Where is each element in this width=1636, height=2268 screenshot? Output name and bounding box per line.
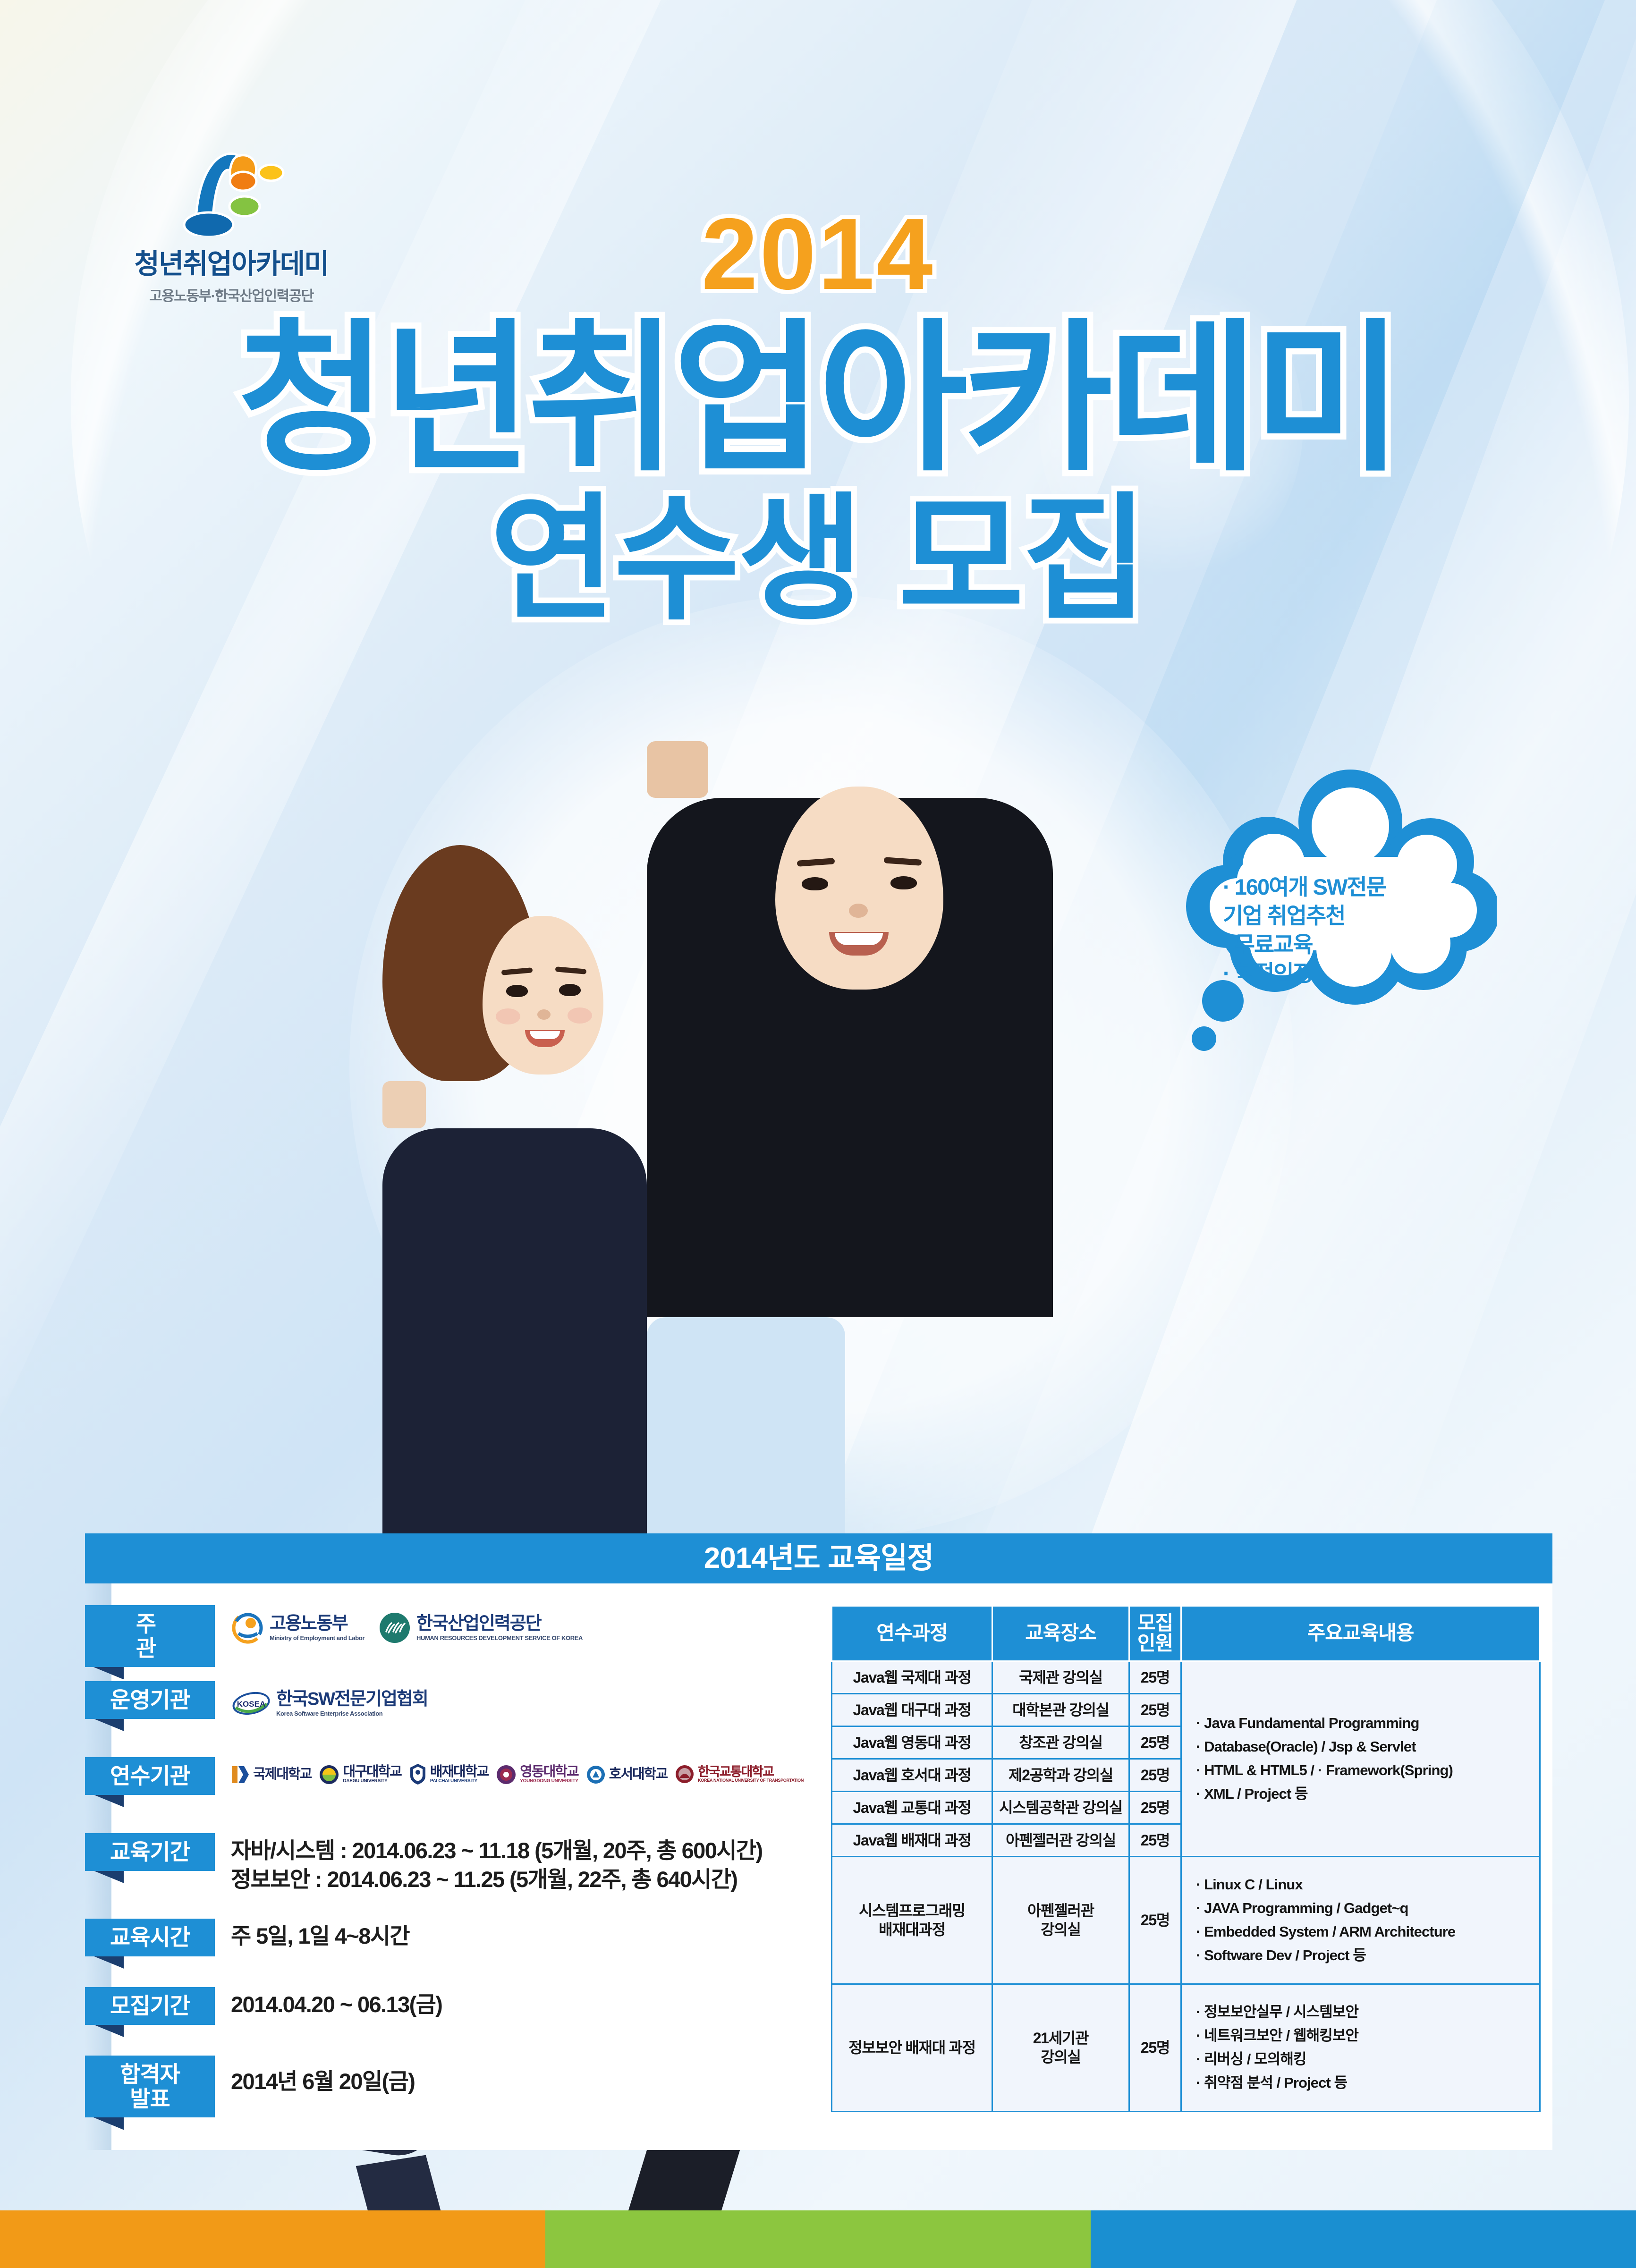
cell-quota: 25명 (1129, 1759, 1181, 1791)
schedule-banner-title: 2014년도 교육일정 (85, 1533, 1552, 1583)
blush-right (568, 1007, 592, 1024)
results-announcement-line: 2014년 6월 20일(금) (231, 2067, 822, 2096)
training-period-line-1: 자바/시스템 : 2014.06.23 ~ 11.18 (5개월, 20주, 총… (231, 1836, 822, 1865)
th-content: 주요교육내용 (1181, 1606, 1540, 1661)
table-header-row: 연수과정 교육장소 모집 인원 주요교육내용 (832, 1606, 1540, 1661)
operator-logos: KOSEA 한국SW전문기업협회 Korea Software Enterpri… (215, 1681, 428, 1720)
hrdkorea-name-ko: 한국산업인력공단 (416, 1615, 583, 1633)
uni-name-ko: 한국교통대학교 (698, 1765, 804, 1778)
cell-course: Java웹 배재대 과정 (832, 1824, 992, 1856)
info-label-training-hours: 교육시간 (85, 1919, 215, 1956)
cell-sysprog-content: · Linux C / Linux · JAVA Programming / G… (1181, 1856, 1540, 1984)
bar-green (545, 2210, 1091, 2268)
tab-fold (92, 1870, 124, 1883)
neck (382, 1081, 426, 1128)
bar-orange (0, 2210, 545, 2268)
moel-logo: 고용노동부 Ministry of Employment and Labor (231, 1611, 364, 1645)
cell-quota: 25명 (1129, 1791, 1181, 1824)
jacket (382, 1128, 647, 1572)
shirt (647, 1317, 845, 1563)
eye-left (506, 985, 528, 997)
headline-line-2: 연수생 모집 (0, 488, 1636, 632)
university-logos: 국제대학교 대구대학교 DAEGU UNIVERSITY (215, 1757, 804, 1786)
headline-line-1: 청년취업아카데미 (0, 313, 1636, 486)
bubble-line-4: · 학점인정 (1223, 959, 1445, 988)
knut-emblem-icon (675, 1763, 695, 1786)
info-label-results-announcement: 합격자 발표 (85, 2056, 215, 2117)
security-content-line-3: · 리버싱 / 모의해킹 (1196, 2048, 1536, 2071)
eye-left (802, 877, 828, 890)
info-value-training-hours: 주 5일, 1일 4~8시간 (215, 1919, 822, 1950)
uni-name-en: KOREA NATIONAL UNIVERSITY OF TRANSPORTAT… (698, 1778, 804, 1783)
uni-logo-knut: 한국교통대학교 KOREA NATIONAL UNIVERSITY OF TRA… (675, 1763, 804, 1786)
java-content-line-4: · XML / Project 등 (1196, 1782, 1536, 1806)
hrdkorea-emblem-icon (378, 1611, 412, 1645)
security-place-line-2: 강의실 (1041, 2048, 1080, 2065)
nose (537, 1009, 551, 1020)
info-value-training-period: 자바/시스템 : 2014.06.23 ~ 11.18 (5개월, 20주, 총… (215, 1833, 822, 1894)
uni-name-ko: 배재대학교 (430, 1765, 488, 1779)
cell-place: 대학본관 강의실 (992, 1693, 1129, 1726)
th-place: 교육장소 (992, 1606, 1129, 1661)
cell-course: Java웹 국제대 과정 (832, 1661, 992, 1693)
sysprog-content-line-4: · Software Dev / Project 등 (1196, 1944, 1536, 1967)
uni-name-ko: 영동대학교 (520, 1765, 578, 1779)
cell-course: Java웹 호서대 과정 (832, 1759, 992, 1791)
cell-quota: 25명 (1129, 1856, 1181, 1984)
security-content-line-4: · 취약점 분석 / Project 등 (1196, 2071, 1536, 2095)
info-row-results-announcement: 합격자 발표 2014년 6월 20일(금) (85, 2056, 822, 2126)
bubble-line-3: · 무료교육 (1223, 930, 1445, 959)
moel-name-en: Ministry of Employment and Labor (270, 1635, 364, 1641)
neck (647, 741, 708, 798)
java-content-line-3: · HTML & HTML5 / · Framework(Spring) (1196, 1759, 1536, 1782)
uni-logo-youngdong: 영동대학교 YOUNGDONG UNIVERSITY (496, 1763, 578, 1785)
security-content-line-2: · 네트워크보안 / 웹해킹보안 (1196, 2024, 1536, 2048)
sysprog-content-line-3: · Embedded System / ARM Architecture (1196, 1920, 1536, 1944)
info-label-application-period: 모집기간 (85, 1987, 215, 2025)
moel-name-ko: 고용노동부 (270, 1615, 364, 1633)
info-row-training-institutions: 연수기관 국제대학교 (85, 1757, 822, 1829)
uni-name-ko: 대구대학교 (343, 1765, 401, 1779)
teeth (530, 1031, 560, 1039)
blush-left (496, 1008, 520, 1024)
info-value-results-announcement: 2014년 6월 20일(금) (215, 2056, 822, 2096)
students-photo (373, 727, 1204, 1544)
kosea-logo: KOSEA 한국SW전문기업협회 Korea Software Enterpri… (231, 1687, 428, 1720)
svg-text:KOSEA: KOSEA (237, 1700, 265, 1709)
info-label-operator: 운영기관 (85, 1681, 215, 1719)
info-value-application-period: 2014.04.20 ~ 06.13(금) (215, 1987, 822, 2019)
info-row-training-hours: 교육시간 주 5일, 1일 4~8시간 (85, 1919, 822, 1983)
uni-name-en: YOUNGDONG UNIVERSITY (520, 1779, 578, 1784)
uni-name-ko: 국제대학교 (253, 1767, 311, 1781)
headline-year: 2014 (701, 203, 934, 305)
kosea-emblem-icon: KOSEA (231, 1687, 271, 1720)
course-table: 연수과정 교육장소 모집 인원 주요교육내용 Java웹 국제대 과정 국제관 … (831, 1605, 1541, 2112)
training-hours-line: 주 5일, 1일 4~8시간 (231, 1921, 822, 1950)
bubble-line-1: · 160여개 SW전문 (1223, 872, 1445, 901)
poster-canvas: 청년취업아카데미 고용노동부·한국산업인력공단 2014 청년취업아카데미 연수… (0, 0, 1636, 2268)
eye-right (890, 876, 917, 889)
headline-block: 2014 청년취업아카데미 연수생 모집 (0, 203, 1636, 631)
cell-place: 제2공학과 강의실 (992, 1759, 1129, 1791)
cell-quota: 25명 (1129, 1661, 1181, 1693)
bar-blue (1091, 2210, 1636, 2268)
application-period-line: 2014.04.20 ~ 06.13(금) (231, 1990, 822, 2019)
sysprog-place-line-2: 강의실 (1041, 1921, 1080, 1938)
eye-right (559, 984, 581, 996)
cell-place: 21세기관 강의실 (992, 1984, 1129, 2111)
moel-emblem-icon (231, 1611, 265, 1645)
th-quota-line-2: 인원 (1137, 1632, 1173, 1654)
java-content-line-1: · Java Fundamental Programming (1196, 1711, 1536, 1735)
tab-fold (92, 1794, 124, 1807)
training-period-line-2: 정보보안 : 2014.06.23 ~ 11.25 (5개월, 22주, 총 6… (231, 1865, 822, 1894)
info-label-host: 주 관 (85, 1605, 215, 1667)
results-label-line-1: 합격자 (120, 2062, 180, 2087)
sysprog-content-line-1: · Linux C / Linux (1196, 1873, 1536, 1896)
java-content-line-2: · Database(Oracle) / Jsp & Servlet (1196, 1735, 1536, 1759)
host-logos: 고용노동부 Ministry of Employment and Labor (215, 1605, 583, 1645)
info-label-training-institutions: 연수기관 (85, 1757, 215, 1795)
info-row-operator: 운영기관 KOSEA 한국SW전문기업협회 Korea Software Ent… (85, 1681, 822, 1753)
cell-course: Java웹 대구대 과정 (832, 1693, 992, 1726)
paichai-emblem-icon (409, 1763, 427, 1786)
uni-logo-daegu: 대구대학교 DAEGU UNIVERSITY (319, 1763, 401, 1785)
tab-fold (92, 2116, 124, 2130)
sysprog-place-line-1: 아펜젤러관 (1027, 1902, 1094, 1919)
cell-place: 시스템공학관 강의실 (992, 1791, 1129, 1824)
head (483, 916, 603, 1075)
thought-bubble: · 160여개 SW전문 기업 취업추천 · 무료교육 · 학점인정 (1166, 765, 1497, 1067)
table-row-sysprog: 시스템프로그래밍 배재대과정 아펜젤러관 강의실 25명 · Linux C /… (832, 1856, 1540, 1984)
table-row-security: 정보보안 배재대 과정 21세기관 강의실 25명 · 정보보안실무 / 시스템… (832, 1984, 1540, 2111)
bottom-color-bars (0, 2210, 1636, 2268)
cell-course: 시스템프로그래밍 배재대과정 (832, 1856, 992, 1984)
cell-course: Java웹 교통대 과정 (832, 1791, 992, 1824)
uni-name-en: PAI CHAI UNIVERSITY (430, 1779, 488, 1784)
kosea-name-ko: 한국SW전문기업협회 (276, 1690, 428, 1708)
cell-quota: 25명 (1129, 1984, 1181, 2111)
youngdong-emblem-icon (496, 1763, 517, 1785)
cell-place: 아펜젤러관 강의실 (992, 1824, 1129, 1856)
security-place-line-1: 21세기관 (1033, 2030, 1088, 2047)
cell-place: 국제관 강의실 (992, 1661, 1129, 1693)
cell-quota: 25명 (1129, 1824, 1181, 1856)
person-man (647, 741, 1152, 1544)
th-quota-line-1: 모집 (1137, 1612, 1173, 1634)
kosea-name-en: Korea Software Enterprise Association (276, 1710, 428, 1717)
info-row-application-period: 모집기간 2014.04.20 ~ 06.13(금) (85, 1987, 822, 2051)
kookje-emblem-icon (231, 1763, 250, 1785)
sysprog-course-line-1: 시스템프로그래밍 (859, 1902, 965, 1919)
tab-fold (92, 1666, 124, 1679)
uni-logo-hoseo: 호서대학교 (586, 1763, 667, 1785)
hoseo-emblem-icon (586, 1763, 606, 1785)
cell-java-content: · Java Fundamental Programming · Databas… (1181, 1661, 1540, 1856)
hrdkorea-name-en: HUMAN RESOURCES DEVELOPMENT SERVICE OF K… (416, 1635, 583, 1641)
table-row: Java웹 국제대 과정 국제관 강의실 25명 · Java Fundamen… (832, 1661, 1540, 1693)
schedule-banner: 2014년도 교육일정 (85, 1533, 1552, 1583)
results-label-line-2: 발표 (130, 2086, 170, 2111)
cell-place: 아펜젤러관 강의실 (992, 1856, 1129, 1984)
cell-security-content: · 정보보안실무 / 시스템보안 · 네트워크보안 / 웹해킹보안 · 리버싱 … (1181, 1984, 1540, 2111)
cell-course: Java웹 영동대 과정 (832, 1726, 992, 1759)
uni-name-en: DAEGU UNIVERSITY (343, 1779, 401, 1784)
info-label-training-period: 교육기간 (85, 1833, 215, 1871)
hrdkorea-logo: 한국산업인력공단 HUMAN RESOURCES DEVELOPMENT SER… (378, 1611, 583, 1645)
teeth (835, 933, 883, 945)
uni-name-ko: 호서대학교 (609, 1767, 667, 1781)
sysprog-content-line-2: · JAVA Programming / Gadget~q (1196, 1896, 1536, 1920)
uni-logo-kookje: 국제대학교 (231, 1763, 311, 1785)
cell-quota: 25명 (1129, 1726, 1181, 1759)
sysprog-course-line-2: 배재대과정 (879, 1921, 945, 1938)
nose (849, 904, 868, 918)
info-row-training-period: 교육기간 자바/시스템 : 2014.06.23 ~ 11.18 (5개월, 2… (85, 1833, 822, 1914)
tab-fold (92, 2024, 124, 2037)
info-list: 주 관 고용노동부 Ministry of Employment and Lab… (85, 1605, 822, 2131)
uni-logo-paichai: 배재대학교 PAI CHAI UNIVERSITY (409, 1763, 488, 1786)
tab-fold (92, 1955, 124, 1969)
bubble-text-block: · 160여개 SW전문 기업 취업추천 · 무료교육 · 학점인정 (1223, 872, 1445, 988)
security-content-line-1: · 정보보안실무 / 시스템보안 (1196, 2000, 1536, 2024)
cell-quota: 25명 (1129, 1693, 1181, 1726)
daegu-emblem-icon (319, 1763, 339, 1785)
cell-place: 창조관 강의실 (992, 1726, 1129, 1759)
tab-fold (92, 1718, 124, 1731)
th-course: 연수과정 (832, 1606, 992, 1661)
cell-course: 정보보안 배재대 과정 (832, 1984, 992, 2111)
info-row-host: 주 관 고용노동부 Ministry of Employment and Lab… (85, 1605, 822, 1677)
bubble-line-2: 기업 취업추천 (1223, 901, 1445, 930)
th-quota: 모집 인원 (1129, 1606, 1181, 1661)
